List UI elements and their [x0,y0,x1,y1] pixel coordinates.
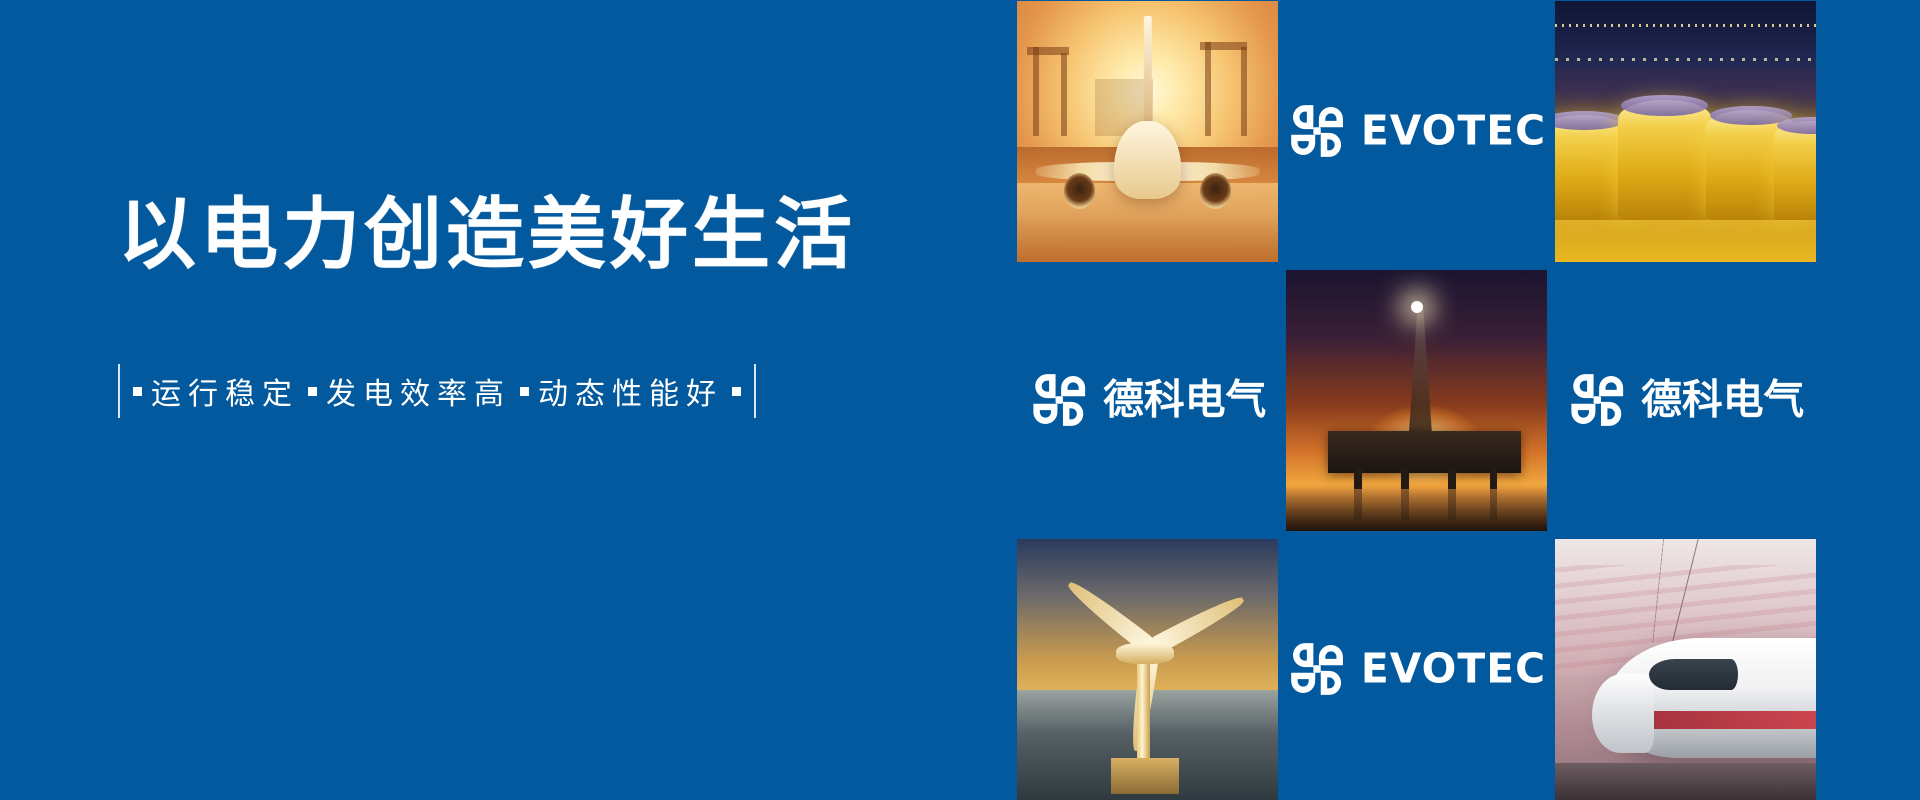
evotec-pinwheel-mark-icon [1287,101,1346,160]
wind-turbine-photo [1017,539,1278,800]
high-speed-train-photo [1555,539,1816,800]
bullet-square-icon [732,387,741,396]
copy-block: 以电力创造美好生活 运行稳定 发电效率高 动态性能好 [118,196,938,422]
deke-pinwheel-mark-icon [1567,370,1626,429]
brand-photo-grid: EVOTEC [1017,0,1920,800]
subtitle-item-3: 动态性能好 [538,369,723,413]
bullet-square-icon [308,387,317,396]
evotec-wordmark: EVOTEC [1361,649,1546,690]
deke-logo-right: 德科电气 [1555,270,1816,531]
deke-pinwheel-mark-icon [1029,370,1088,429]
subtitle-item-2: 发电效率高 [326,369,511,413]
evotec-logo-top: EVOTEC [1286,1,1547,262]
deke-wordmark: 德科电气 [1103,380,1266,421]
page-title: 以电力创造美好生活 [118,196,938,274]
evotec-logo-bottom: EVOTEC [1286,539,1547,800]
subtitle-item-1: 运行稳定 [151,369,299,413]
airplane-cargo-port-photo [1017,1,1278,262]
oil-storage-tanks-photo [1555,1,1816,262]
promo-banner: 以电力创造美好生活 运行稳定 发电效率高 动态性能好 [0,0,1920,800]
subtitle-bar: 运行稳定 发电效率高 动态性能好 [118,360,938,422]
right-rule-divider [754,364,756,418]
subtitle-items: 运行稳定 发电效率高 动态性能好 [120,369,754,413]
bullet-square-icon [520,387,529,396]
deke-logo-left: 德科电气 [1017,270,1278,531]
offshore-oil-rig-photo [1286,270,1547,531]
evotec-pinwheel-mark-icon [1287,639,1346,698]
evotec-wordmark: EVOTEC [1361,111,1546,152]
deke-wordmark: 德科电气 [1641,380,1804,421]
bullet-square-icon [133,387,142,396]
